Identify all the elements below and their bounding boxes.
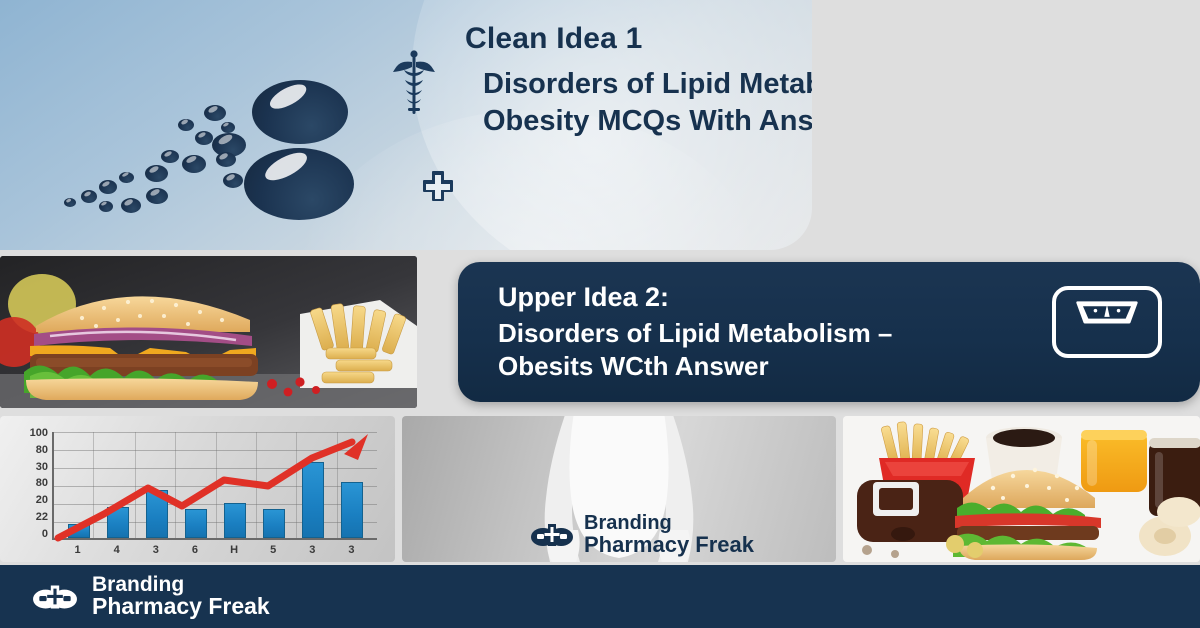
x-tick: 4 — [106, 544, 128, 556]
obesity-silhouette-panel: Branding Pharmacy Freak — [402, 416, 836, 562]
header-eyebrow: Clean Idea 1 — [465, 22, 812, 56]
y-tick: 0 — [42, 529, 48, 540]
middle-band: Upper Idea 2: Disorders of Lipid Metabol… — [0, 256, 1200, 408]
banner-text-block: Upper Idea 2: Disorders of Lipid Metabol… — [498, 282, 892, 384]
watermark-line-2: Pharmacy Freak — [584, 534, 754, 556]
idea-2-banner: Upper Idea 2: Disorders of Lipid Metabol… — [458, 262, 1200, 402]
caduceus-icon — [392, 48, 436, 124]
y-tick: 20 — [36, 495, 48, 506]
y-tick: 80 — [36, 445, 48, 456]
chart-y-axis: 100 80 30 80 20 22 0 — [4, 428, 48, 540]
header-title-block: Clean Idea 1 Disorders of Lipid Metaboli… — [465, 22, 812, 139]
watermark-line-1: Branding — [584, 513, 754, 533]
header-panel: Clean Idea 1 Disorders of Lipid Metaboli… — [0, 0, 812, 250]
medical-cross-icon — [420, 170, 456, 206]
watermark-text: Branding Pharmacy Freak — [584, 513, 754, 556]
pharmacy-freak-logo — [530, 520, 574, 550]
banner-line-2: Disorders of Lipid Metabolism – — [498, 317, 892, 350]
footer-brand-text: Branding Pharmacy Freak — [92, 574, 270, 620]
bubble-cluster-decoration — [0, 0, 420, 250]
header-title-line-1: Disorders of Lipid Metabolism – — [483, 66, 812, 103]
growth-chart-panel: 100 80 30 80 20 22 0 — [0, 416, 395, 562]
y-tick: 22 — [36, 512, 48, 523]
poster-canvas: Clean Idea 1 Disorders of Lipid Metaboli… — [0, 0, 1200, 628]
bottom-band: 100 80 30 80 20 22 0 — [0, 416, 1200, 562]
chart: 100 80 30 80 20 22 0 — [0, 422, 395, 558]
header-title-line-2: Obesity MCQs With Answer — [483, 103, 812, 140]
header-title: Disorders of Lipid Metabolism – Obesity … — [465, 66, 812, 139]
x-tick: 3 — [340, 544, 362, 556]
weight-scale-icon — [1052, 286, 1162, 358]
y-tick: 80 — [36, 478, 48, 489]
burger-photo — [0, 256, 417, 408]
pharmacy-freak-logo — [32, 581, 78, 613]
chart-trend-arrow — [52, 432, 377, 544]
footer-line-1: Branding — [92, 574, 270, 596]
footer-line-2: Pharmacy Freak — [92, 595, 270, 619]
x-tick: 5 — [262, 544, 284, 556]
footer-bar: Branding Pharmacy Freak — [0, 565, 1200, 628]
banner-line-3: Obesits WCth Answer — [498, 350, 892, 383]
chart-x-axis: 1 4 3 6 H 5 3 3 — [52, 544, 377, 556]
x-tick: 1 — [67, 544, 89, 556]
y-tick: 100 — [30, 428, 48, 439]
x-tick: 6 — [184, 544, 206, 556]
x-tick: 3 — [145, 544, 167, 556]
watermark-branding: Branding Pharmacy Freak — [530, 513, 754, 556]
fastfood-photo — [843, 416, 1200, 562]
banner-body: Disorders of Lipid Metabolism – Obesits … — [498, 317, 892, 384]
y-tick: 30 — [36, 462, 48, 473]
x-tick: H — [223, 544, 245, 556]
banner-line-1: Upper Idea 2: — [498, 282, 892, 313]
x-tick: 3 — [301, 544, 323, 556]
